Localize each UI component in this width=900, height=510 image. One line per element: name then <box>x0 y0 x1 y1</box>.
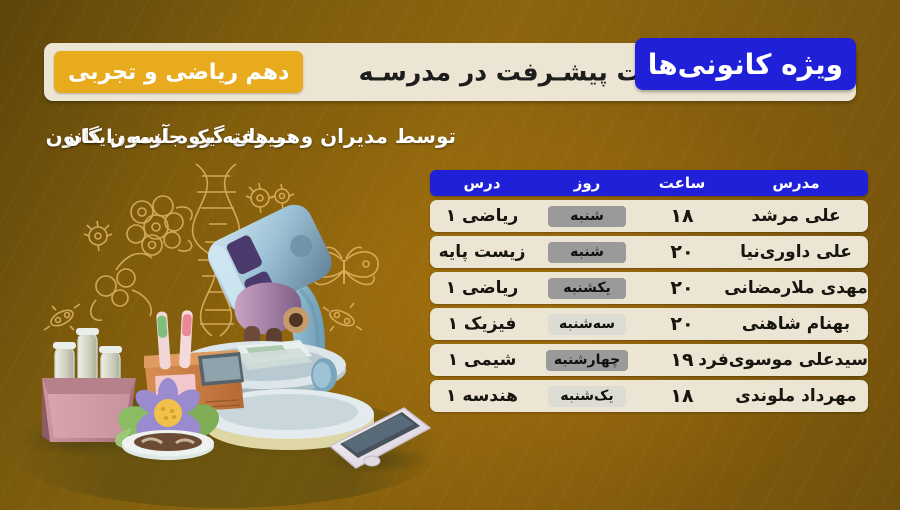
cell-lesson: فیزیک ۱ <box>430 314 534 334</box>
table-row: علی داوری‌نیا۲۰شنبهزیست پایه <box>430 236 868 268</box>
cell-hour: ۲۰ <box>640 313 724 335</box>
day-badge: یک‌شنبه <box>548 386 626 407</box>
bacteria-icon <box>44 304 80 330</box>
grade-badge: دهم ریاضی و تجربی <box>54 51 303 93</box>
table-row: مهرداد ملوندی۱۸یک‌شنبههندسه ۱ <box>430 380 868 412</box>
cell-lesson: هندسه ۱ <box>430 386 534 406</box>
column-header-hour: ساعت <box>640 174 724 192</box>
cell-day: چهارشنبه <box>534 350 640 371</box>
cell-teacher: بهنام شاهنی <box>724 314 868 334</box>
cell-day: شنبه <box>534 206 640 227</box>
poster-canvas: جهـت پیشـرفت در مدرسـه دهم ریاضی و تجربی… <box>0 0 900 510</box>
cell-hour: ۱۹ <box>640 349 724 371</box>
table-row: علی مرشد۱۸شنبهریاضی ۱ <box>430 200 868 232</box>
cell-teacher: علی داوری‌نیا <box>724 242 868 262</box>
day-badge: سه‌شنبه <box>548 314 626 335</box>
cell-day: یکشنبه <box>534 278 640 299</box>
table-row: مهدی ملارمضانی۲۰یکشنبهریاضی ۱ <box>430 272 868 304</box>
table-row: بهنام شاهنی۲۰سه‌شنبهفیزیک ۱ <box>430 308 868 340</box>
cell-day: سه‌شنبه <box>534 314 640 335</box>
cell-lesson: شیمی ۱ <box>430 350 534 370</box>
free-session-note: هر هفته یک جلسه رایگان <box>65 126 300 148</box>
column-header-teacher: مدرس <box>724 174 868 192</box>
grade-badge-label: دهم ریاضی و تجربی <box>68 60 289 85</box>
bacteria-icon <box>84 221 112 251</box>
cell-cluster-icon <box>127 196 192 255</box>
day-badge: چهارشنبه <box>546 350 628 371</box>
cell-teacher: مهرداد ملوندی <box>724 386 868 406</box>
audience-badge: ویژه کانونی‌ها <box>635 38 856 90</box>
science-illustration <box>0 150 450 510</box>
cell-day: یک‌شنبه <box>534 386 640 407</box>
cell-day: شنبه <box>534 242 640 263</box>
cell-hour: ۱۸ <box>640 205 724 227</box>
cell-hour: ۲۰ <box>640 277 724 299</box>
cell-lesson: ریاضی ۱ <box>430 278 534 298</box>
cell-teacher: مهدی ملارمضانی <box>724 278 868 298</box>
cell-hour: ۱۸ <box>640 385 724 407</box>
bacteria-icon <box>271 184 294 208</box>
bacteria-icon <box>246 183 274 213</box>
day-badge: شنبه <box>548 206 626 227</box>
table-header-row: مدرس ساعت روز درس <box>430 170 868 196</box>
table-row: سیدعلی موسوی‌فرد۱۹چهارشنبهشیمی ۱ <box>430 344 868 376</box>
bacteria-icon <box>323 303 362 331</box>
cell-teacher: سیدعلی موسوی‌فرد <box>724 350 868 370</box>
cell-lesson: ریاضی ۱ <box>430 206 534 226</box>
audience-badge-label: ویژه کانونی‌ها <box>648 48 843 81</box>
day-badge: یکشنبه <box>548 278 626 299</box>
column-header-day: روز <box>534 174 640 192</box>
cell-teacher: علی مرشد <box>724 206 868 226</box>
plant-sprig-icon <box>91 254 152 321</box>
column-header-lesson: درس <box>430 174 534 192</box>
cell-lesson: زیست پایه <box>430 242 534 262</box>
schedule-table: مدرس ساعت روز درس علی مرشد۱۸شنبهریاضی ۱ع… <box>430 170 868 412</box>
cell-hour: ۲۰ <box>640 241 724 263</box>
day-badge: شنبه <box>548 242 626 263</box>
